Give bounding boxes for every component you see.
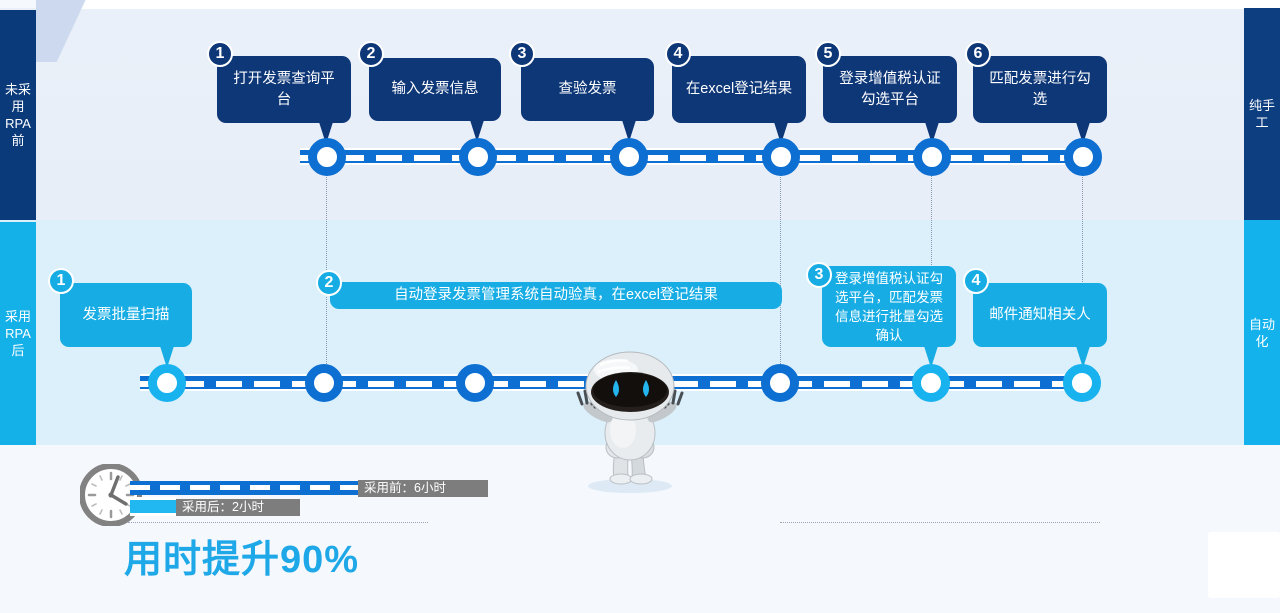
footer-divider-right xyxy=(780,522,1100,523)
time-bar-after xyxy=(130,497,176,516)
step-badge-after-1: 1 xyxy=(48,268,74,294)
rail-label-before-rpa: 未采用RPA前 xyxy=(0,10,36,220)
rail-left-bottom-text: 采用RPA后 xyxy=(0,308,36,359)
rail-label-after-rpa: 采用RPA后 xyxy=(0,222,36,445)
infographic-canvas: 未采用RPA前 采用RPA后 纯手工 自动化 打开发票查询平台 1 输入发票信息… xyxy=(0,0,1280,613)
rail-label-automated: 自动化 xyxy=(1244,220,1280,445)
step-badge-before-3: 3 xyxy=(509,41,535,67)
timeline-node-after-6[interactable] xyxy=(1063,364,1101,402)
top-white-strip xyxy=(60,0,1280,9)
step-box-before-3[interactable]: 查验发票 xyxy=(521,58,654,121)
step-box-after-2-label: 自动登录发票管理系统自动验真，在excel登记结果 xyxy=(394,285,718,306)
step-box-after-1[interactable]: 发票批量扫描 xyxy=(60,283,192,347)
time-bar-after-text: 采用后：2小时 xyxy=(182,500,264,514)
time-bar-before-label: 采用前：6小时 xyxy=(358,480,488,497)
step-box-before-2[interactable]: 输入发票信息 xyxy=(369,58,501,121)
step-badge-after-2: 2 xyxy=(316,270,342,296)
step-box-before-6-label: 匹配发票进行勾选 xyxy=(983,69,1097,111)
step-box-before-4-label: 在excel登记结果 xyxy=(686,79,792,100)
timeline-node-before-4[interactable] xyxy=(762,138,800,176)
step-box-after-3[interactable]: 登录增值税认证勾选平台，匹配发票信息进行批量勾选确认 xyxy=(822,266,956,347)
step-badge-after-1-num: 1 xyxy=(57,273,66,289)
step-box-after-4-label: 邮件通知相关人 xyxy=(989,305,1091,326)
step-badge-after-4-num: 4 xyxy=(972,273,981,289)
step-badge-before-6: 6 xyxy=(965,41,991,67)
timeline-node-before-5[interactable] xyxy=(913,138,951,176)
step-badge-before-3-num: 3 xyxy=(518,46,527,62)
timeline-node-before-1[interactable] xyxy=(308,138,346,176)
step-box-after-4[interactable]: 邮件通知相关人 xyxy=(973,283,1107,347)
timeline-node-after-2[interactable] xyxy=(305,364,343,402)
step-badge-before-5-num: 5 xyxy=(824,46,833,62)
step-badge-before-2-num: 2 xyxy=(367,46,376,62)
connector-line-2 xyxy=(780,172,781,372)
timeline-node-after-5[interactable] xyxy=(912,364,950,402)
connector-line-3 xyxy=(931,172,932,267)
step-badge-before-4: 4 xyxy=(665,41,691,67)
corner-wedge-decoration xyxy=(36,0,116,62)
step-box-before-1-label: 打开发票查询平台 xyxy=(227,69,341,111)
timeline-node-before-6[interactable] xyxy=(1064,138,1102,176)
step-box-after-1-label: 发票批量扫描 xyxy=(83,305,170,326)
headline-improvement: 用时提升90% xyxy=(124,528,359,583)
step-badge-after-4: 4 xyxy=(963,268,989,294)
headline-text: 用时提升90% xyxy=(124,539,359,581)
timeline-node-before-2[interactable] xyxy=(459,138,497,176)
step-badge-before-1-num: 1 xyxy=(216,46,225,62)
step-badge-after-3: 3 xyxy=(806,262,832,288)
step-box-after-3-label: 登录增值税认证勾选平台，匹配发票信息进行批量勾选确认 xyxy=(832,269,946,345)
rail-right-bottom-text: 自动化 xyxy=(1244,316,1280,350)
step-badge-before-4-num: 4 xyxy=(674,46,683,62)
rail-label-manual: 纯手工 xyxy=(1244,8,1280,220)
step-badge-before-1: 1 xyxy=(207,41,233,67)
timeline-node-before-3[interactable] xyxy=(610,138,648,176)
step-box-before-5[interactable]: 登录增值税认证勾选平台 xyxy=(823,56,957,123)
timeline-track-before xyxy=(300,148,1100,165)
rail-right-top-text: 纯手工 xyxy=(1244,97,1280,131)
robot-mascot-icon xyxy=(570,348,690,493)
timeline-node-after-1[interactable] xyxy=(148,364,186,402)
rail-left-top-text: 未采用RPA前 xyxy=(0,81,36,149)
step-box-before-5-label: 登录增值税认证勾选平台 xyxy=(833,69,947,111)
step-box-before-4[interactable]: 在excel登记结果 xyxy=(672,56,806,123)
step-badge-after-3-num: 3 xyxy=(815,267,824,283)
step-box-after-2[interactable]: 自动登录发票管理系统自动验真，在excel登记结果 xyxy=(330,282,782,309)
step-box-before-3-label: 查验发票 xyxy=(559,79,617,100)
time-bar-before-text: 采用前：6小时 xyxy=(364,481,446,495)
step-box-before-1[interactable]: 打开发票查询平台 xyxy=(217,56,351,123)
clock-icon xyxy=(80,464,142,526)
step-box-before-6[interactable]: 匹配发票进行勾选 xyxy=(973,56,1107,123)
step-badge-after-2-num: 2 xyxy=(325,275,334,291)
footer-divider-left xyxy=(128,522,428,523)
step-box-before-2-label: 输入发票信息 xyxy=(392,79,479,100)
step-badge-before-5: 5 xyxy=(815,41,841,67)
timeline-node-after-3[interactable] xyxy=(456,364,494,402)
timeline-node-after-4[interactable] xyxy=(761,364,799,402)
step-badge-before-2: 2 xyxy=(358,41,384,67)
time-bar-before xyxy=(130,481,358,495)
footer-white-card xyxy=(1208,532,1280,598)
step-badge-before-6-num: 6 xyxy=(974,46,983,62)
time-bar-after-label: 采用后：2小时 xyxy=(176,499,300,516)
